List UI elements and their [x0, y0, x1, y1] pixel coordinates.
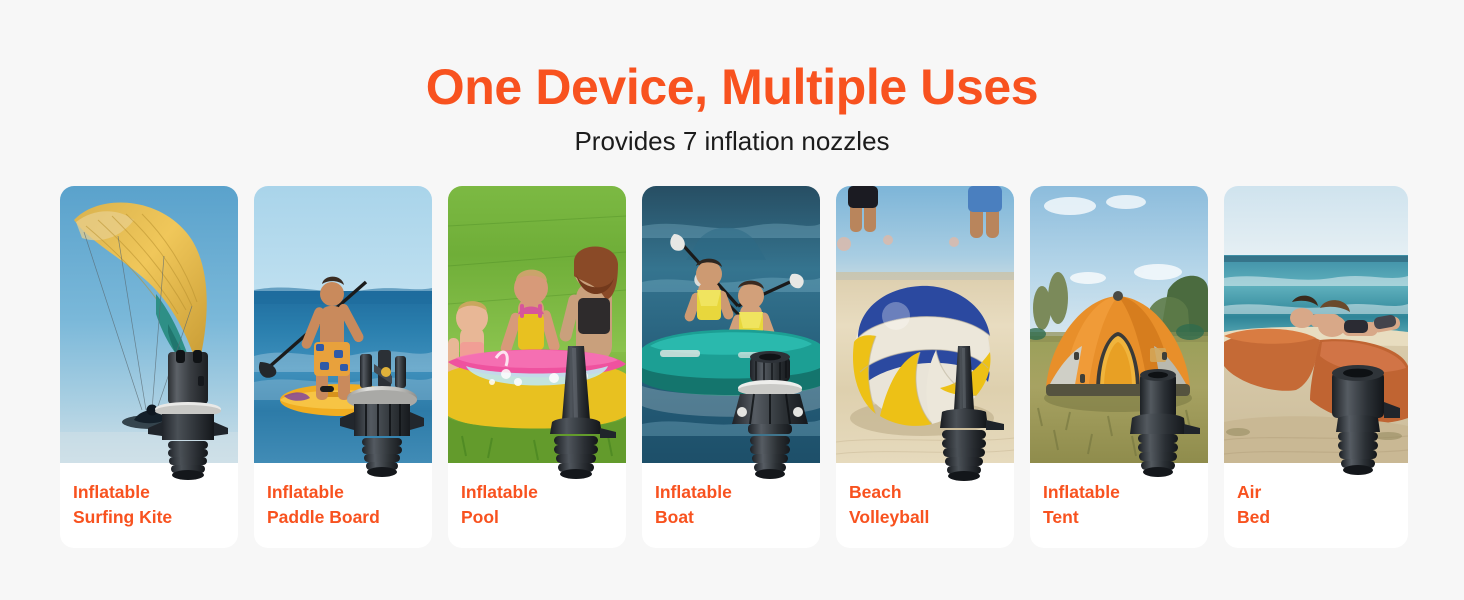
- use-case-card-surfing-kite[interactable]: Inflatable Surfing Kite: [60, 186, 238, 548]
- use-case-card-volleyball[interactable]: Beach Volleyball: [836, 186, 1014, 548]
- use-case-label: Inflatable Paddle Board: [267, 480, 380, 529]
- promo-banner: One Device, Multiple Uses Provides 7 inf…: [0, 0, 1464, 600]
- page-title: One Device, Multiple Uses: [0, 58, 1464, 116]
- use-case-label: Beach Volleyball: [849, 480, 929, 529]
- use-case-card-pool[interactable]: Inflatable Pool: [448, 186, 626, 548]
- use-case-card-tent[interactable]: Inflatable Tent: [1030, 186, 1208, 548]
- use-case-label: Inflatable Pool: [461, 480, 538, 529]
- use-case-label: Inflatable Surfing Kite: [73, 480, 172, 529]
- inflatable-surfing-kite-photo: [60, 186, 238, 463]
- use-case-label: Inflatable Boat: [655, 480, 732, 529]
- use-case-card-paddle-board[interactable]: Inflatable Paddle Board: [254, 186, 432, 548]
- inflatable-boat-photo: [642, 186, 820, 463]
- use-case-card-air-bed[interactable]: Air Bed: [1224, 186, 1408, 548]
- use-case-card-row: Inflatable Surfing Kite: [60, 186, 1404, 548]
- air-bed-photo: [1224, 186, 1408, 463]
- beach-volleyball-photo: [836, 186, 1014, 463]
- page-subtitle: Provides 7 inflation nozzles: [0, 125, 1464, 157]
- heading-block: One Device, Multiple Uses Provides 7 inf…: [0, 58, 1464, 157]
- use-case-card-boat[interactable]: Inflatable Boat: [642, 186, 820, 548]
- inflatable-pool-photo: [448, 186, 626, 463]
- use-case-label: Air Bed: [1237, 480, 1270, 529]
- inflatable-tent-photo: [1030, 186, 1208, 463]
- inflatable-paddle-board-photo: [254, 186, 432, 463]
- use-case-label: Inflatable Tent: [1043, 480, 1120, 529]
